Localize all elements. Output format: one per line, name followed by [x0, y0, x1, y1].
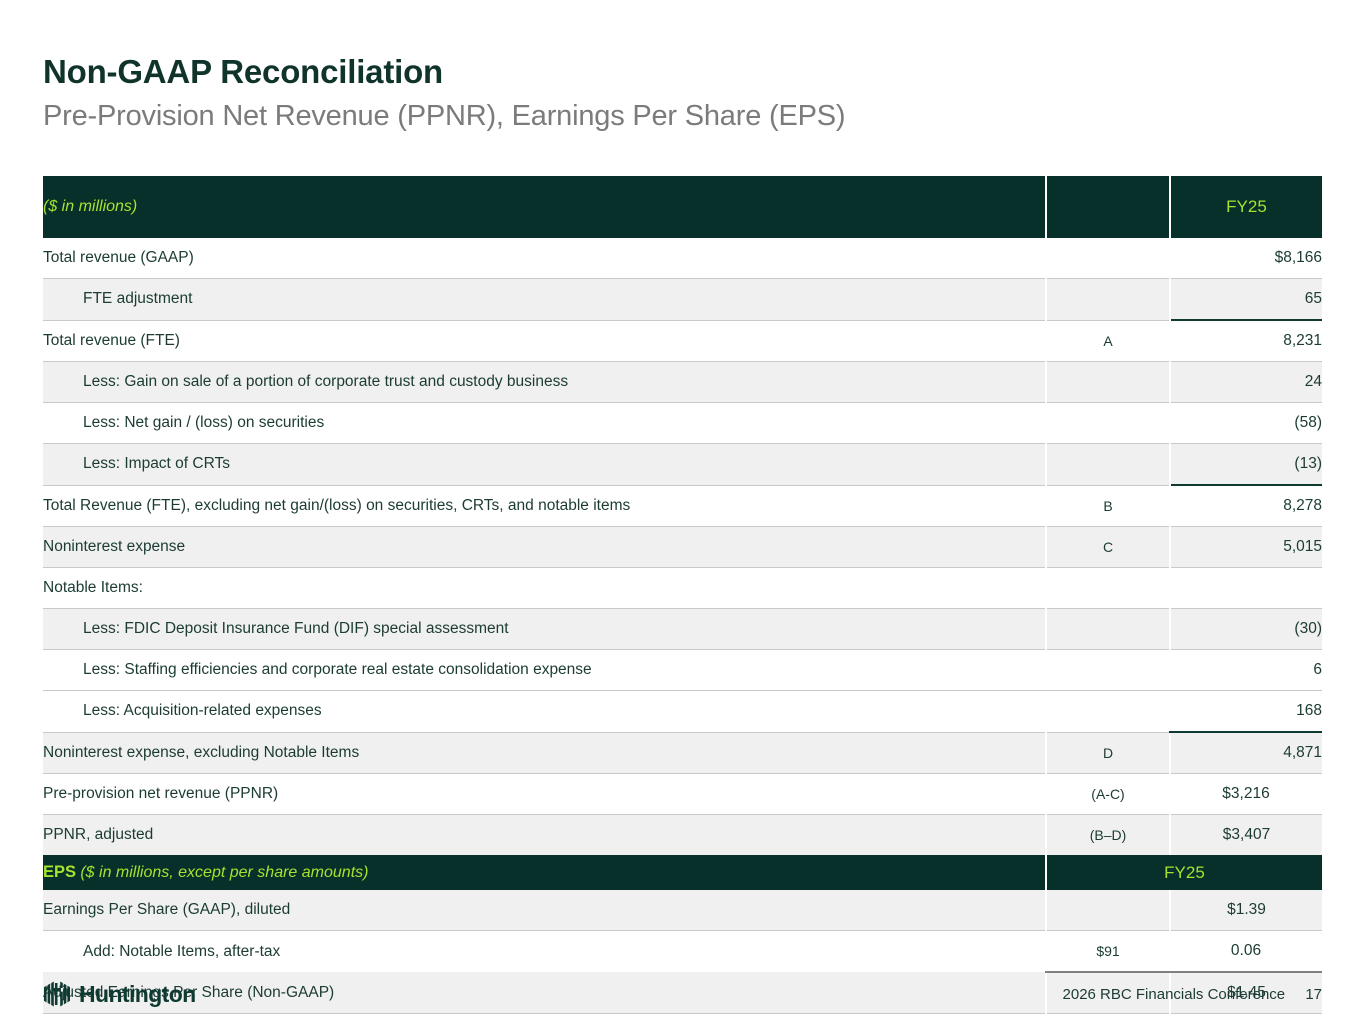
table-row: Add: Notable Items, after-tax $91 0.06 [43, 931, 1322, 973]
row-ref: A [1046, 320, 1170, 362]
row-label: Total revenue (GAAP) [43, 238, 1046, 279]
row-value: 65 [1170, 279, 1322, 321]
huntington-logo: Huntington [42, 979, 196, 1009]
row-value: $3,216 [1170, 774, 1322, 815]
row-ref [1046, 609, 1170, 650]
table-row: Less: Net gain / (loss) on securities (5… [43, 403, 1322, 444]
table-row: Total revenue (GAAP) $8,166 [43, 238, 1322, 279]
table-row: Less: Acquisition-related expenses 168 [43, 691, 1322, 733]
header-ref-cell [1046, 176, 1170, 238]
conference-name: 2026 RBC Financials Conference [1063, 986, 1286, 1003]
page-title: Non-GAAP Reconciliation [43, 53, 443, 91]
row-label: Pre-provision net revenue (PPNR) [43, 774, 1046, 815]
table-header-row: ($ in millions) FY25 [43, 176, 1322, 238]
table-row: Less: FDIC Deposit Insurance Fund (DIF) … [43, 609, 1322, 650]
row-value: $8,166 [1170, 238, 1322, 279]
header-year-label: FY25 [1170, 176, 1322, 238]
row-ref [1046, 650, 1170, 691]
row-ref: D [1046, 732, 1170, 774]
table-row: Total revenue (FTE) A 8,231 [43, 320, 1322, 362]
eps-header-row: EPS ($ in millions, except per share amo… [43, 855, 1322, 890]
row-value: 8,231 [1170, 320, 1322, 362]
footer-meta: 2026 RBC Financials Conference 17 [1063, 986, 1322, 1003]
row-ref [1046, 890, 1170, 931]
row-value: 24 [1170, 362, 1322, 403]
row-ref [1046, 238, 1170, 279]
row-ref [1046, 691, 1170, 733]
table-row: Notable Items: [43, 568, 1322, 609]
row-label: Total revenue (FTE) [43, 320, 1046, 362]
row-label: Less: FDIC Deposit Insurance Fund (DIF) … [43, 609, 1046, 650]
row-label: Less: Impact of CRTs [43, 444, 1046, 486]
table-row: Less: Impact of CRTs (13) [43, 444, 1322, 486]
table-row: Earnings Per Share (GAAP), diluted $1.39 [43, 890, 1322, 931]
row-value: (58) [1170, 403, 1322, 444]
page-number: 17 [1305, 986, 1322, 1003]
row-ref: B [1046, 485, 1170, 527]
table-row: Noninterest expense, excluding Notable I… [43, 732, 1322, 774]
reconciliation-table-container: ($ in millions) FY25 Total revenue (GAAP… [43, 176, 1322, 1014]
row-value: $1.39 [1170, 890, 1322, 931]
huntington-wordmark: Huntington [79, 981, 196, 1008]
row-label: Less: Net gain / (loss) on securities [43, 403, 1046, 444]
row-label: Less: Gain on sale of a portion of corpo… [43, 362, 1046, 403]
row-value: 168 [1170, 691, 1322, 733]
row-value: 0.06 [1170, 931, 1322, 973]
table-row: Total Revenue (FTE), excluding net gain/… [43, 485, 1322, 527]
row-value: 6 [1170, 650, 1322, 691]
row-value: 5,015 [1170, 527, 1322, 568]
row-ref [1046, 568, 1170, 609]
reconciliation-table: ($ in millions) FY25 Total revenue (GAAP… [43, 176, 1322, 1014]
row-label: Noninterest expense, excluding Notable I… [43, 732, 1046, 774]
row-label: Add: Notable Items, after-tax [43, 931, 1046, 973]
table-row: Less: Staffing efficiencies and corporat… [43, 650, 1322, 691]
row-ref [1046, 403, 1170, 444]
table-row: Pre-provision net revenue (PPNR) (A-C) $… [43, 774, 1322, 815]
row-value: 4,871 [1170, 732, 1322, 774]
row-label: Less: Staffing efficiencies and corporat… [43, 650, 1046, 691]
page-subtitle: Pre-Provision Net Revenue (PPNR), Earnin… [43, 100, 845, 133]
table-row: Noninterest expense C 5,015 [43, 527, 1322, 568]
row-label: Earnings Per Share (GAAP), diluted [43, 890, 1046, 931]
row-ref [1046, 362, 1170, 403]
row-value: 8,278 [1170, 485, 1322, 527]
row-label: PPNR, adjusted [43, 815, 1046, 856]
eps-header-strong: EPS [43, 863, 76, 881]
row-ref [1046, 444, 1170, 486]
header-units-label: ($ in millions) [43, 176, 1046, 238]
row-value: (13) [1170, 444, 1322, 486]
row-label: Noninterest expense [43, 527, 1046, 568]
row-value: (30) [1170, 609, 1322, 650]
row-label: Less: Acquisition-related expenses [43, 691, 1046, 733]
table-row: PPNR, adjusted (B–D) $3,407 [43, 815, 1322, 856]
row-ref: C [1046, 527, 1170, 568]
row-label: Total Revenue (FTE), excluding net gain/… [43, 485, 1046, 527]
eps-header-year: FY25 [1046, 855, 1322, 890]
row-ref: (A-C) [1046, 774, 1170, 815]
row-ref: $91 [1046, 931, 1170, 973]
row-value: $3,407 [1170, 815, 1322, 856]
row-label: Notable Items: [43, 568, 1046, 609]
row-value [1170, 568, 1322, 609]
eps-header-label: EPS ($ in millions, except per share amo… [43, 855, 1046, 890]
huntington-hexagon-icon [42, 979, 72, 1009]
row-label: FTE adjustment [43, 279, 1046, 321]
eps-header-units: ($ in millions, except per share amounts… [80, 864, 368, 881]
row-ref [1046, 279, 1170, 321]
row-ref: (B–D) [1046, 815, 1170, 856]
table-row: Less: Gain on sale of a portion of corpo… [43, 362, 1322, 403]
table-row: FTE adjustment 65 [43, 279, 1322, 321]
